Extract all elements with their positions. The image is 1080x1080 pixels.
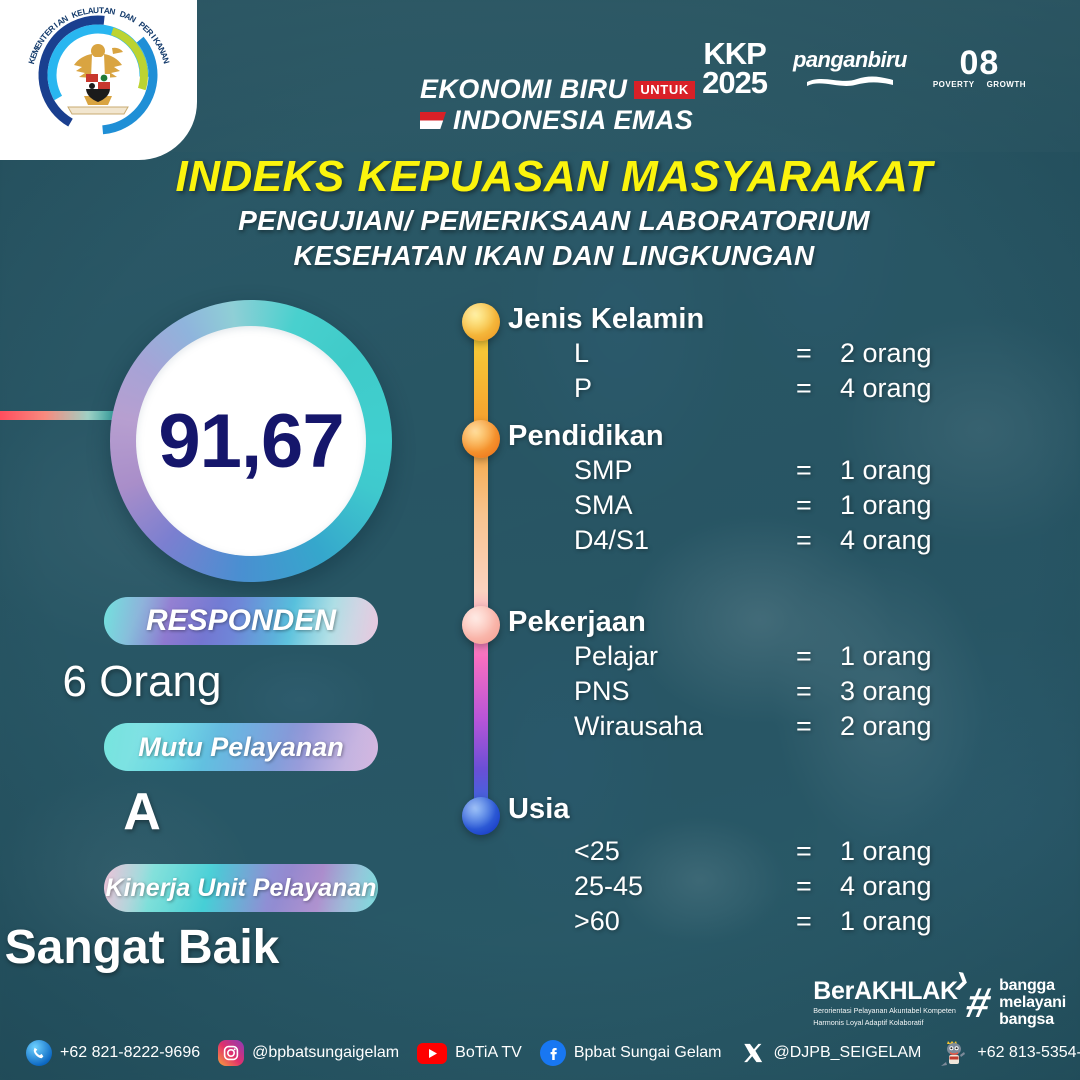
row-value: 1 orang (840, 490, 932, 521)
berakhlak-wordmark: BerAKHLAK ❯ (813, 979, 958, 1004)
score-donut-chart: 91,67 (110, 300, 392, 582)
row-value: 1 orang (840, 906, 932, 937)
data-row: Wirausaha = 2 orang (508, 711, 1008, 746)
berakhlak-tick-icon: ❯ (953, 971, 970, 991)
footer-contact-bar: +62 821-8222-9696 @bpbatsungaigelam BoTi… (0, 1026, 1080, 1080)
ekonomi-biru-line1: EKONOMI BIRU (420, 76, 627, 103)
data-row: P = 4 orang (508, 373, 1008, 408)
row-equals: = (796, 455, 840, 486)
mutu-pelayanan-badge: Mutu Pelayanan (104, 723, 378, 771)
score-donut-hole: 91,67 (136, 326, 366, 556)
group-pekerjaan: Pekerjaan Pelajar = 1 orang PNS = 3 oran… (508, 606, 1008, 746)
row-value: 3 orang (840, 676, 932, 707)
kkp-logo-line2: 2025 (702, 69, 767, 98)
row-label: SMA (508, 490, 796, 521)
contact-x-twitter[interactable]: @DJPB_SEIGELAM (740, 1040, 922, 1066)
row-value: 4 orang (840, 871, 932, 902)
contact-label: Bpbat Sungai Gelam (574, 1044, 722, 1062)
row-value: 1 orang (840, 836, 932, 867)
kkp-2025-logo: KKP 2025 (702, 40, 767, 97)
row-equals: = (796, 711, 840, 742)
row-label: >60 (508, 906, 796, 937)
growth-label: GROWTH (987, 80, 1026, 89)
berakhlak-logo: BerAKHLAK ❯ Berorientasi Pelayanan Akunt… (813, 978, 1066, 1028)
contact-whatsapp[interactable]: +62 821-8222-9696 (26, 1040, 200, 1066)
berakhlak-text-block: BerAKHLAK ❯ Berorientasi Pelayanan Akunt… (813, 979, 958, 1027)
row-equals: = (796, 338, 840, 369)
kinerja-unit-pelayanan-badge: Kinerja Unit Pelayanan (104, 864, 378, 912)
row-value: 4 orang (840, 373, 932, 404)
timeline-bar (474, 312, 488, 820)
group-rows: <25 = 1 orang 25-45 = 4 orang >60 = 1 or… (508, 836, 1008, 941)
data-row: L = 2 orang (508, 338, 1008, 373)
row-equals: = (796, 676, 840, 707)
row-equals: = (796, 836, 840, 867)
indonesia-flag-icon (420, 112, 446, 129)
row-value: 1 orang (840, 641, 932, 672)
group-pendidikan: Pendidikan SMP = 1 orang SMA = 1 orang D… (508, 420, 1008, 560)
bangga-melayani-bangsa-text: bangga melayani bangsa (999, 978, 1066, 1028)
group-rows: Pelajar = 1 orang PNS = 3 orang Wirausah… (508, 641, 1008, 746)
panganbiru-wordmark: panganbiru (793, 47, 907, 73)
poverty-label: POVERTY (933, 80, 975, 89)
timeline-dot-jenis-kelamin (462, 303, 500, 341)
row-equals: = (796, 906, 840, 937)
group-usia: Usia <25 = 1 orang 25-45 = 4 orang >60 =… (508, 793, 1008, 941)
youtube-icon (417, 1043, 447, 1064)
row-value: 2 orang (840, 338, 932, 369)
group-title: Jenis Kelamin (508, 303, 1008, 336)
phone-icon (26, 1040, 52, 1066)
row-label: Wirausaha (508, 711, 796, 742)
kinerja-unit-pelayanan-label: Kinerja Unit Pelayanan (106, 874, 377, 903)
row-equals: = (796, 525, 840, 556)
contact-instagram[interactable]: @bpbatsungaigelam (218, 1040, 399, 1066)
bmb-line-1: bangga (999, 978, 1066, 995)
zero-poverty-eight-growth-logo: 08 POVERTY GROWTH (933, 48, 1026, 89)
contact-youtube[interactable]: BoTiA TV (417, 1043, 522, 1064)
row-equals: = (796, 373, 840, 404)
panganbiru-logo: panganbiru (793, 47, 907, 91)
group-rows: SMP = 1 orang SMA = 1 orang D4/S1 = 4 or… (508, 455, 1008, 560)
mutu-pelayanan-label: Mutu Pelayanan (138, 732, 344, 763)
mascot-icon (939, 1037, 969, 1069)
contact-label: @bpbatsungaigelam (252, 1044, 399, 1062)
score-value: 91,67 (158, 398, 343, 485)
ekonomi-biru-line2: INDONESIA EMAS (453, 107, 693, 134)
panganbiru-wave-icon (807, 73, 893, 86)
data-row: SMA = 1 orang (508, 490, 1008, 525)
group-title: Usia (508, 793, 1008, 826)
row-value: 4 orang (840, 525, 932, 556)
ekonomi-biru-lockup: EKONOMI BIRU UNTUK INDONESIA EMAS (420, 76, 720, 134)
data-row: >60 = 1 orang (508, 906, 1008, 941)
timeline-dot-pekerjaan (462, 606, 500, 644)
data-row: SMP = 1 orang (508, 455, 1008, 490)
data-row: <25 = 1 orang (508, 836, 1008, 871)
contact-label: BoTiA TV (455, 1044, 522, 1062)
page-title: INDEKS KEPUASAN MASYARAKAT (14, 152, 1080, 202)
zero-eight-numerals: 08 (933, 48, 1026, 79)
data-row: PNS = 3 orang (508, 676, 1008, 711)
responden-badge: RESPONDEN (104, 597, 378, 645)
timeline-dot-pendidikan (462, 420, 500, 458)
kkp-lockups: KKP 2025 panganbiru 08 POVERTY GROWTH (702, 40, 1026, 97)
row-value: 2 orang (840, 711, 932, 742)
berakhlak-word: BerAKHLAK (813, 977, 958, 1005)
data-row: 25-45 = 4 orang (508, 871, 1008, 906)
row-label: <25 (508, 836, 796, 867)
row-label: PNS (508, 676, 796, 707)
data-row: Pelajar = 1 orang (508, 641, 1008, 676)
group-jenis-kelamin: Jenis Kelamin L = 2 orang P = 4 orang (508, 303, 1008, 408)
contact-label: +62 821-8222-9696 (60, 1044, 200, 1062)
row-equals: = (796, 871, 840, 902)
contact-label: @DJPB_SEIGELAM (774, 1044, 922, 1062)
row-value: 1 orang (840, 455, 932, 486)
row-label: Pelajar (508, 641, 796, 672)
page-subtitle-1: PENGUJIAN/ PEMERIKSAAN LABORATORIUM (14, 205, 1080, 237)
row-equals: = (796, 490, 840, 521)
timeline-dot-usia (462, 797, 500, 835)
row-equals: = (796, 641, 840, 672)
group-title: Pendidikan (508, 420, 1008, 453)
row-label: D4/S1 (508, 525, 796, 556)
instagram-icon (218, 1040, 244, 1066)
row-label: P (508, 373, 796, 404)
ministry-logo-panel: KEMENTERIAN KELAUTAN DAN PERIKANAN (0, 0, 197, 160)
row-label: 25-45 (508, 871, 796, 902)
berakhlak-subline-1: Berorientasi Pelayanan Akuntabel Kompete… (813, 1006, 958, 1016)
x-twitter-icon (740, 1040, 766, 1066)
page-subtitle-2: KESEHATAN IKAN DAN LINGKUNGAN (14, 240, 1080, 272)
contact-mascot-phone[interactable]: +62 813-5354-5542 (939, 1037, 1080, 1069)
group-rows: L = 2 orang P = 4 orang (508, 338, 1008, 408)
untuk-badge: UNTUK (634, 81, 695, 99)
data-row: D4/S1 = 4 orang (508, 525, 1008, 560)
responden-label: RESPONDEN (146, 604, 336, 638)
contact-label: +62 813-5354-5542 (977, 1044, 1080, 1062)
group-title: Pekerjaan (508, 606, 1008, 639)
bmb-line-2: melayani (999, 995, 1066, 1012)
contact-facebook[interactable]: Bpbat Sungai Gelam (540, 1040, 722, 1066)
ministry-logo-ring-text: KEMENTERIAN KELAUTAN DAN PERIKANAN (0, 0, 197, 160)
facebook-icon (540, 1040, 566, 1066)
row-label: L (508, 338, 796, 369)
row-label: SMP (508, 455, 796, 486)
